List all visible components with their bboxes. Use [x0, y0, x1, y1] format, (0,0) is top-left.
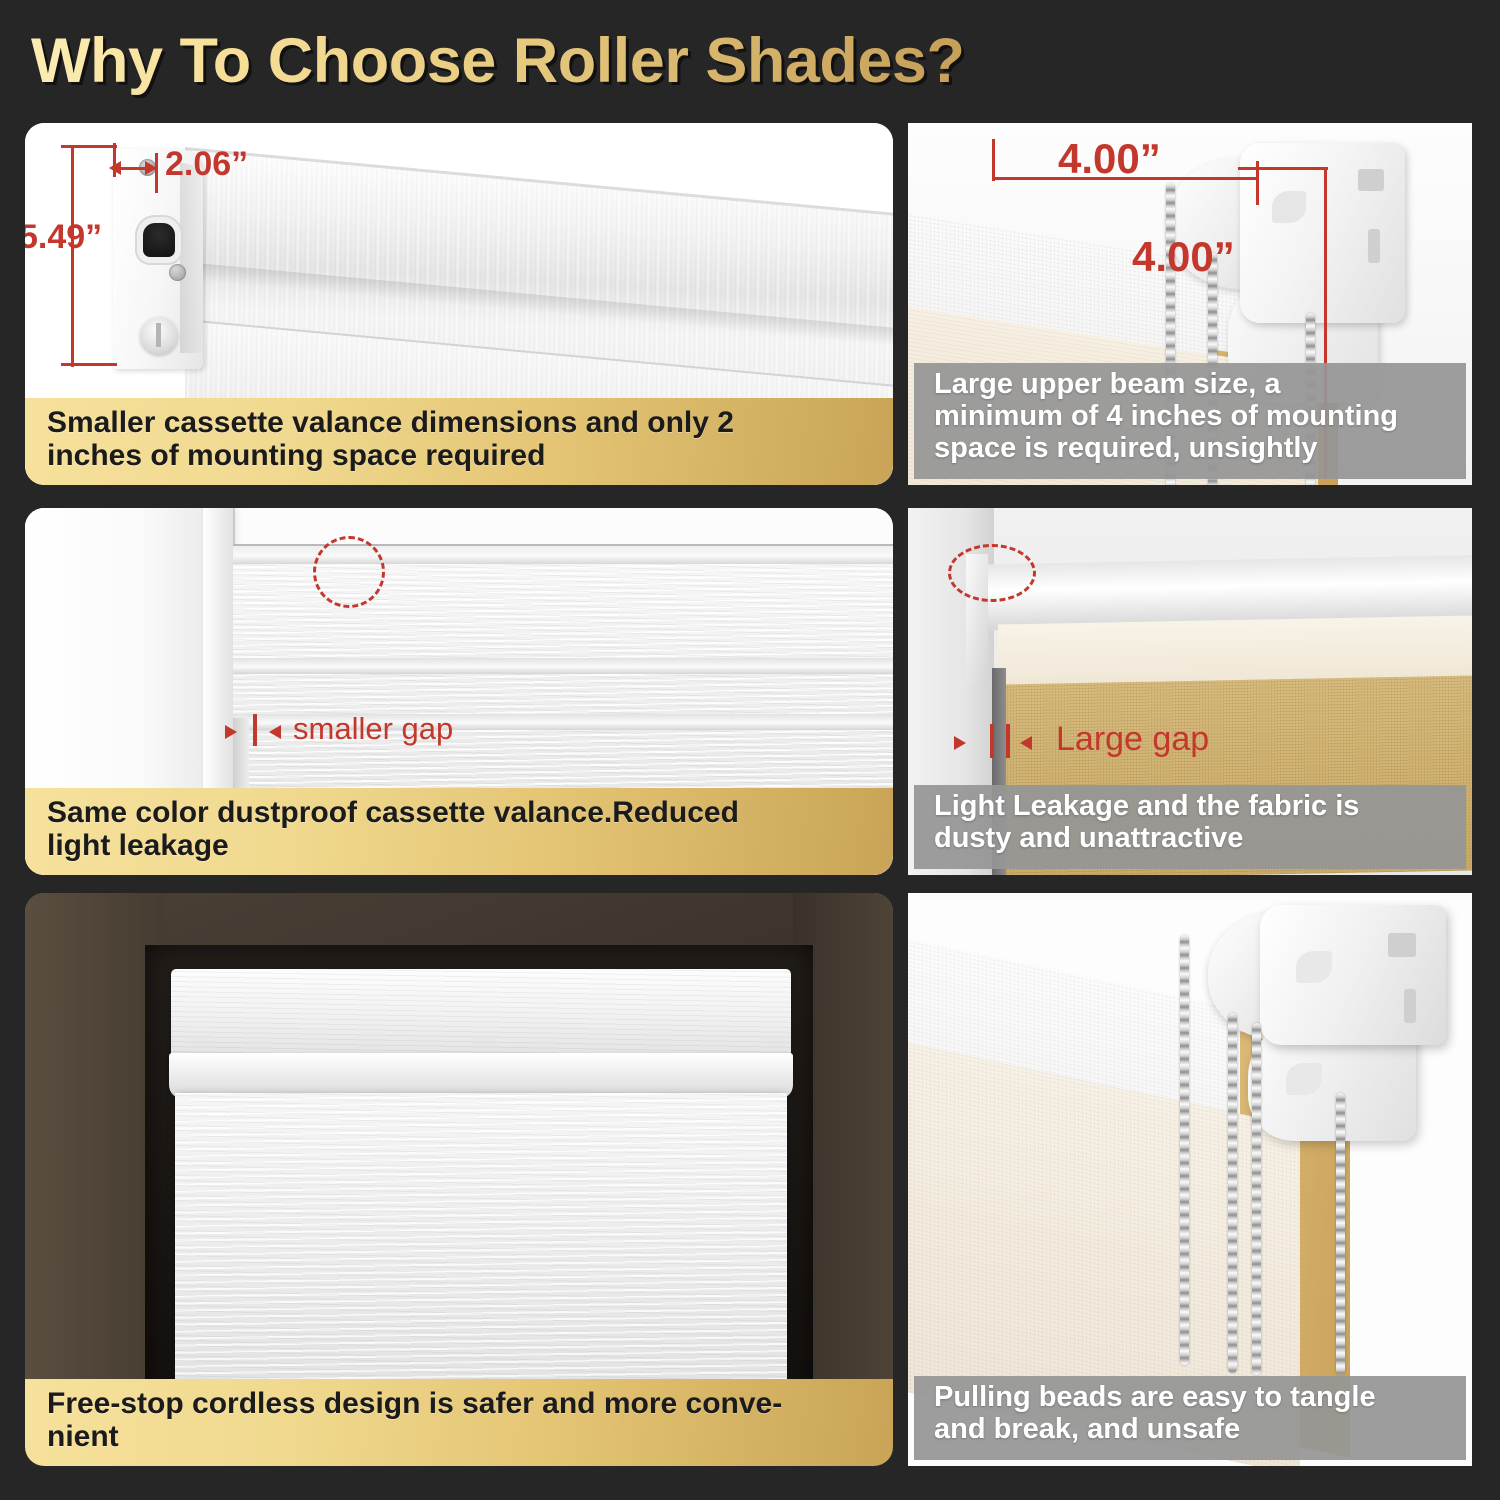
product-photo-window-scene: Free-stop cordless design is safer and m… [25, 893, 893, 1466]
product-photo-cassette-profile: 2.06” 5.49” Smaller cassette valance dim… [25, 123, 893, 485]
gap-marker [990, 724, 994, 758]
bead-chain [1336, 1093, 1345, 1375]
gap-marker [1006, 724, 1010, 758]
caption-good-cordless-design: Free-stop cordless design is safer and m… [25, 1379, 893, 1466]
caption-line: and break, and unsafe [934, 1414, 1466, 1446]
bracket-notch [1404, 989, 1416, 1023]
gap-arrow-left-icon [225, 725, 237, 739]
bracket-emboss-icon [1286, 1063, 1322, 1095]
endcap-slot [143, 223, 175, 257]
endcap-screw-icon [169, 264, 186, 281]
product-photo-smaller-gap: smaller gap Same color dustproof cassett… [25, 508, 893, 875]
bead-chain [1228, 1013, 1237, 1373]
shade-fabric [175, 1093, 787, 1401]
caption-bad-pull-beads: Pulling beads are easy to tangle and bre… [914, 1376, 1466, 1460]
caption-line: nient [47, 1420, 893, 1454]
dimension-label-width: 2.06” [165, 145, 248, 184]
roller-bracket-upper [1260, 905, 1446, 1045]
panel-bad-light-leakage: Large gap Light Leakage and the fabric i… [908, 508, 1472, 875]
panel-good-cassette-dimensions: 2.06” 5.49” Smaller cassette valance dim… [25, 123, 893, 485]
bracket-notch [1358, 169, 1384, 191]
product-photo-bead-chain-roller: Pulling beads are easy to tangle and bre… [908, 893, 1472, 1466]
caption-line: Pulling beads are easy to tangle [934, 1382, 1466, 1414]
caption-good-dustproof-valance: Same color dustproof cassette valance.Re… [25, 788, 893, 875]
bead-chain [1252, 1023, 1261, 1375]
dim-cap-bottom [61, 363, 117, 366]
caption-line: Light Leakage and the fabric is [934, 791, 1466, 823]
caption-line: space is required, unsightly [934, 433, 1466, 465]
gap-arrow-right-icon [1020, 736, 1032, 750]
gap-callout-label: smaller gap [293, 711, 453, 747]
gap-marker [253, 714, 257, 746]
dim-arrow-left-icon [109, 161, 121, 175]
dim-cap-top [61, 145, 117, 148]
gap-arrow-right-icon [269, 725, 281, 739]
caption-line: minimum of 4 inches of mounting [934, 401, 1466, 433]
product-photo-large-gap: Large gap Light Leakage and the fabric i… [908, 508, 1472, 875]
gap-callout-label: Large gap [1056, 720, 1209, 759]
panel-bad-pull-beads: Pulling beads are easy to tangle and bre… [908, 893, 1472, 1466]
gap-arrow-left-icon [954, 736, 966, 750]
highlight-circle-icon [948, 544, 1036, 602]
dimension-label-width: 4.00” [1058, 135, 1161, 183]
bracket-notch [1368, 229, 1380, 263]
bracket-emboss-icon [1296, 951, 1332, 983]
caption-line: Smaller cassette valance dimensions and … [47, 406, 893, 440]
bracket-notch [1388, 933, 1416, 957]
page-title: Why To Choose Roller Shades? [31, 20, 1051, 102]
panel-good-cordless-design: Free-stop cordless design is safer and m… [25, 893, 893, 1466]
caption-line: Same color dustproof cassette valance.Re… [47, 796, 893, 830]
highlight-circle-icon [313, 536, 385, 608]
dim-arrow-right-icon [145, 161, 157, 175]
caption-line: inches of mounting space required [47, 439, 893, 473]
roller-bracket-upper [1240, 143, 1405, 323]
panel-good-dustproof-valance: smaller gap Same color dustproof cassett… [25, 508, 893, 875]
endcap-wheel-icon [140, 317, 178, 355]
bead-chain [1180, 935, 1189, 1365]
dimension-label-height: 4.00” [1132, 233, 1235, 281]
caption-good-cassette-dimensions: Smaller cassette valance dimensions and … [25, 398, 893, 485]
caption-bad-upper-beam-size: Large upper beam size, a minimum of 4 in… [914, 363, 1466, 479]
caption-line: light leakage [47, 829, 893, 863]
dim-tick-left [992, 139, 995, 181]
shade-fabric-band [233, 658, 893, 674]
dim-cap-top [1238, 167, 1328, 170]
caption-line: Large upper beam size, a [934, 369, 1466, 401]
caption-bad-light-leakage: Light Leakage and the fabric is dusty an… [914, 785, 1466, 869]
cassette-headrail [171, 969, 791, 1057]
caption-line: dusty and unattractive [934, 823, 1466, 855]
dimension-label-height: 5.49” [25, 218, 102, 257]
caption-line: Free-stop cordless design is safer and m… [47, 1387, 893, 1421]
product-photo-competitor-beam: 4.00” 4.00” Large upper beam size, a min… [908, 123, 1472, 485]
panel-bad-upper-beam-size: 4.00” 4.00” Large upper beam size, a min… [908, 123, 1472, 485]
bracket-emboss-icon [1272, 191, 1306, 223]
